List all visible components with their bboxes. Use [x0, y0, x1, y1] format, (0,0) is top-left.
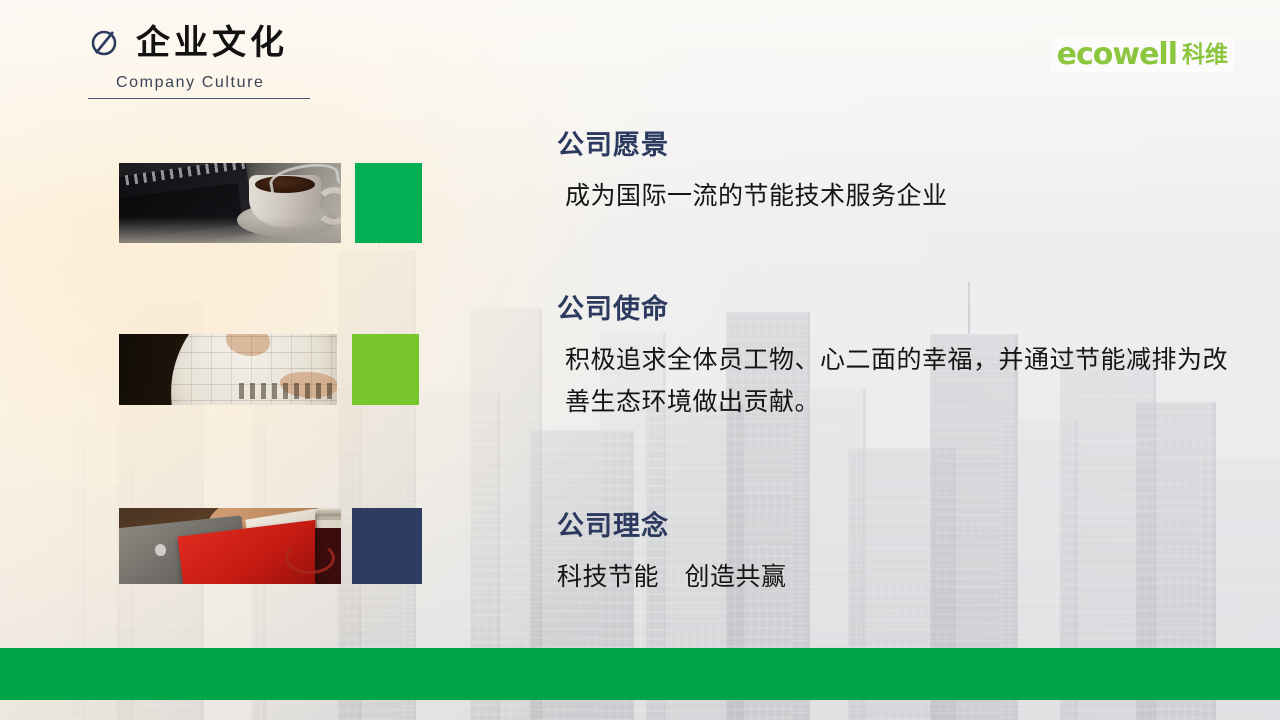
navy-swatch [352, 508, 422, 584]
slashed-circle-icon [88, 26, 122, 60]
block-mission: 公司使命 积极追求全体员工物、心二面的幸福，并通过节能减排为改善生态环境做出贡献… [557, 296, 1247, 422]
ecowell-logo: ecowell 科维 [1051, 38, 1234, 72]
media-photo-1 [119, 163, 341, 243]
block-philosophy: 公司理念 科技节能 创造共赢 [557, 513, 787, 598]
page-title: 企业文化 [136, 26, 288, 60]
slide-company-culture: 企业文化 Company Culture ecowell 科维 [0, 0, 1280, 720]
logo-wordmark: ecowell [1057, 40, 1177, 70]
block-philosophy-body: 科技节能 创造共赢 [557, 556, 787, 598]
block-philosophy-heading: 公司理念 [557, 513, 787, 540]
media-photo-2 [119, 334, 337, 405]
title-underline [88, 98, 310, 99]
light-green-swatch [352, 334, 419, 405]
page-subtitle: Company Culture [88, 74, 388, 92]
footer-green-bar [0, 648, 1280, 700]
media-photo-3 [119, 508, 341, 584]
block-vision: 公司愿景 成为国际一流的节能技术服务企业 [557, 132, 948, 217]
block-mission-heading: 公司使命 [557, 296, 1247, 323]
green-swatch [355, 163, 422, 243]
block-vision-heading: 公司愿景 [557, 132, 948, 159]
block-mission-body: 积极追求全体员工物、心二面的幸福，并通过节能减排为改善生态环境做出贡献。 [557, 339, 1247, 422]
slide-header: 企业文化 Company Culture [88, 26, 388, 99]
logo-chinese-name: 科维 [1182, 44, 1228, 67]
block-vision-body: 成为国际一流的节能技术服务企业 [557, 175, 948, 217]
